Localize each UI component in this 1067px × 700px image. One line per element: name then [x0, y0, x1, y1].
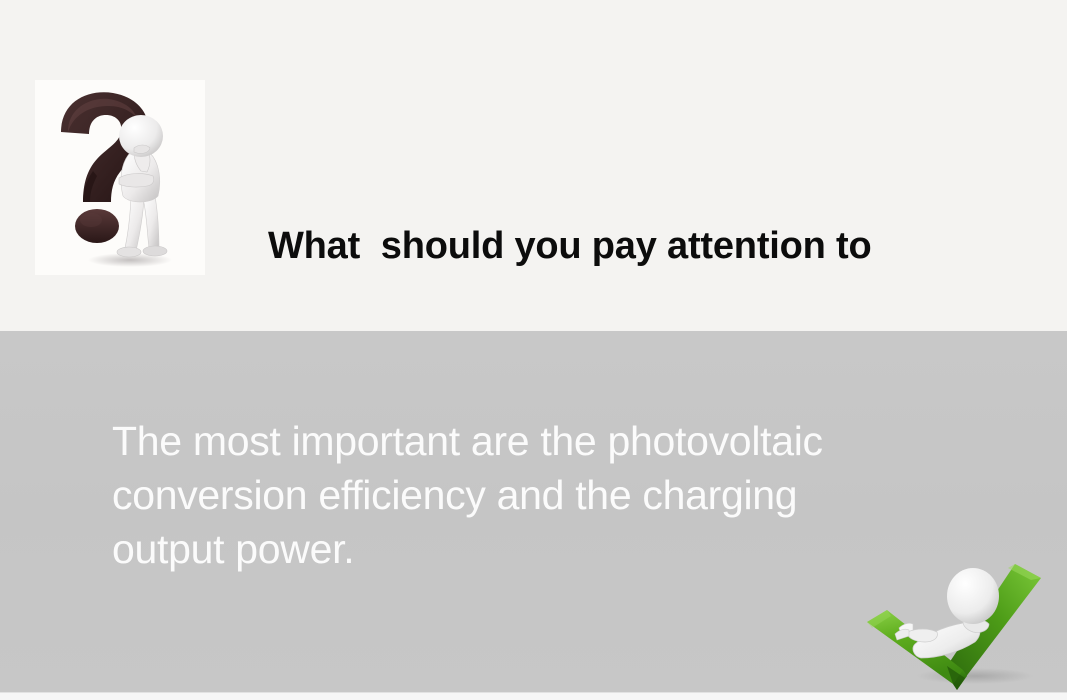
- question-panel: What should you pay attention to when ch…: [0, 0, 1067, 331]
- check-mark-image: [855, 548, 1060, 692]
- answer-line-3: output power.: [112, 522, 962, 576]
- answer-text: The most important are the photovoltaic …: [112, 414, 962, 576]
- slide-footer-strip: [0, 692, 1067, 700]
- thinking-person-question-mark-icon: [35, 80, 205, 275]
- answer-line-1: The most important are the photovoltaic: [112, 414, 962, 468]
- green-check-mark-with-figure-icon: [855, 548, 1060, 692]
- headline-line-1: What should you pay attention to: [268, 218, 968, 275]
- question-mark-image: [35, 80, 205, 275]
- answer-line-2: conversion efficiency and the charging: [112, 468, 962, 522]
- slide-root: What should you pay attention to when ch…: [0, 0, 1067, 700]
